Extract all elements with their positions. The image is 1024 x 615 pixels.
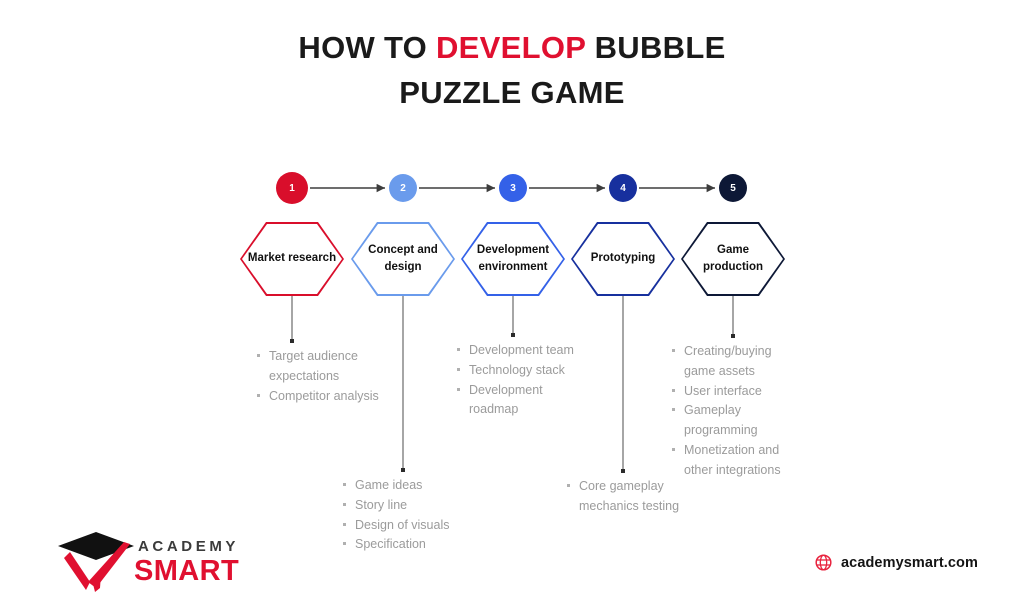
bullet-item: Creating/buying game assets: [670, 342, 802, 382]
logo-text-smart: SMART: [134, 555, 239, 588]
step-number-circle-2[interactable]: 2: [389, 174, 417, 202]
website-url[interactable]: academysmart.com: [841, 555, 978, 571]
stage-label: Game production: [683, 242, 783, 277]
logo-text-academy: ACADEMY: [138, 538, 239, 555]
step-number-circle-5[interactable]: 5: [719, 174, 747, 202]
bullet-item: Competitor analysis: [255, 387, 387, 407]
bullet-item: User interface: [670, 382, 802, 402]
step-number-label: 4: [620, 183, 626, 194]
title-line-1: HOW TO DEVELOP BUBBLE: [0, 26, 1024, 71]
footer: academysmart.com: [815, 554, 978, 571]
stage-label: Development environment: [463, 242, 563, 277]
title-part-before: HOW TO: [298, 30, 436, 65]
stage-bullet-list-1: Target audience expectationsCompetitor a…: [255, 347, 387, 406]
step-number-label: 5: [730, 183, 736, 194]
bullet-item: Technology stack: [455, 361, 587, 381]
title-highlight-word: DEVELOP: [436, 30, 586, 65]
step-number-label: 1: [289, 183, 295, 194]
stage-hexagon-3[interactable]: Development environment: [461, 222, 565, 296]
hexagon-inner: Prototyping: [573, 224, 673, 294]
page-title: HOW TO DEVELOP BUBBLE PUZZLE GAME: [0, 26, 1024, 116]
stage-bullet-list-5: Creating/buying game assetsUser interfac…: [670, 342, 802, 480]
bullet-item: Design of visuals: [341, 516, 473, 536]
bullet-item: Development team: [455, 341, 587, 361]
bullet-item: Story line: [341, 496, 473, 516]
stage-label: Market research: [244, 250, 340, 267]
bullet-item: Monetization and other integrations: [670, 441, 802, 481]
step-number-circle-1[interactable]: 1: [276, 172, 308, 204]
hexagon-inner: Market research: [242, 224, 342, 294]
connector-endpoint-dot-1: [290, 339, 294, 343]
stage-bullet-list-3: Development teamTechnology stackDevelopm…: [455, 341, 587, 420]
bullet-item: Specification: [341, 535, 473, 555]
bullet-item: Target audience expectations: [255, 347, 387, 387]
connector-endpoint-dot-2: [401, 468, 405, 472]
bullet-item: Development roadmap: [455, 381, 587, 421]
step-number-circle-3[interactable]: 3: [499, 174, 527, 202]
academysmart-logo: ACADEMY SMART: [56, 530, 246, 592]
hexagon-inner: Game production: [683, 224, 783, 294]
step-number-label: 2: [400, 183, 406, 194]
bullet-item: Game ideas: [341, 476, 473, 496]
title-line-2: PUZZLE GAME: [0, 71, 1024, 116]
connector-endpoint-dot-4: [621, 469, 625, 473]
globe-icon: [815, 554, 832, 571]
check-stroke-icon: [64, 552, 90, 590]
bullet-item: Gameplay programming: [670, 401, 802, 441]
step-number-label: 3: [510, 183, 516, 194]
stage-hexagon-1[interactable]: Market research: [240, 222, 344, 296]
step-number-circle-4[interactable]: 4: [609, 174, 637, 202]
connector-endpoint-dot-5: [731, 334, 735, 338]
stage-hexagon-4[interactable]: Prototyping: [571, 222, 675, 296]
bullet-item: Core gameplay mechanics testing: [565, 477, 697, 517]
stage-bullet-list-2: Game ideasStory lineDesign of visualsSpe…: [341, 476, 473, 555]
stage-bullet-list-4: Core gameplay mechanics testing: [565, 477, 697, 517]
stage-label: Concept and design: [353, 242, 453, 277]
connector-endpoint-dot-3: [511, 333, 515, 337]
hexagon-inner: Concept and design: [353, 224, 453, 294]
stage-hexagon-2[interactable]: Concept and design: [351, 222, 455, 296]
stage-label: Prototyping: [587, 250, 660, 267]
title-part-after: BUBBLE: [586, 30, 726, 65]
stage-hexagon-5[interactable]: Game production: [681, 222, 785, 296]
hexagon-inner: Development environment: [463, 224, 563, 294]
